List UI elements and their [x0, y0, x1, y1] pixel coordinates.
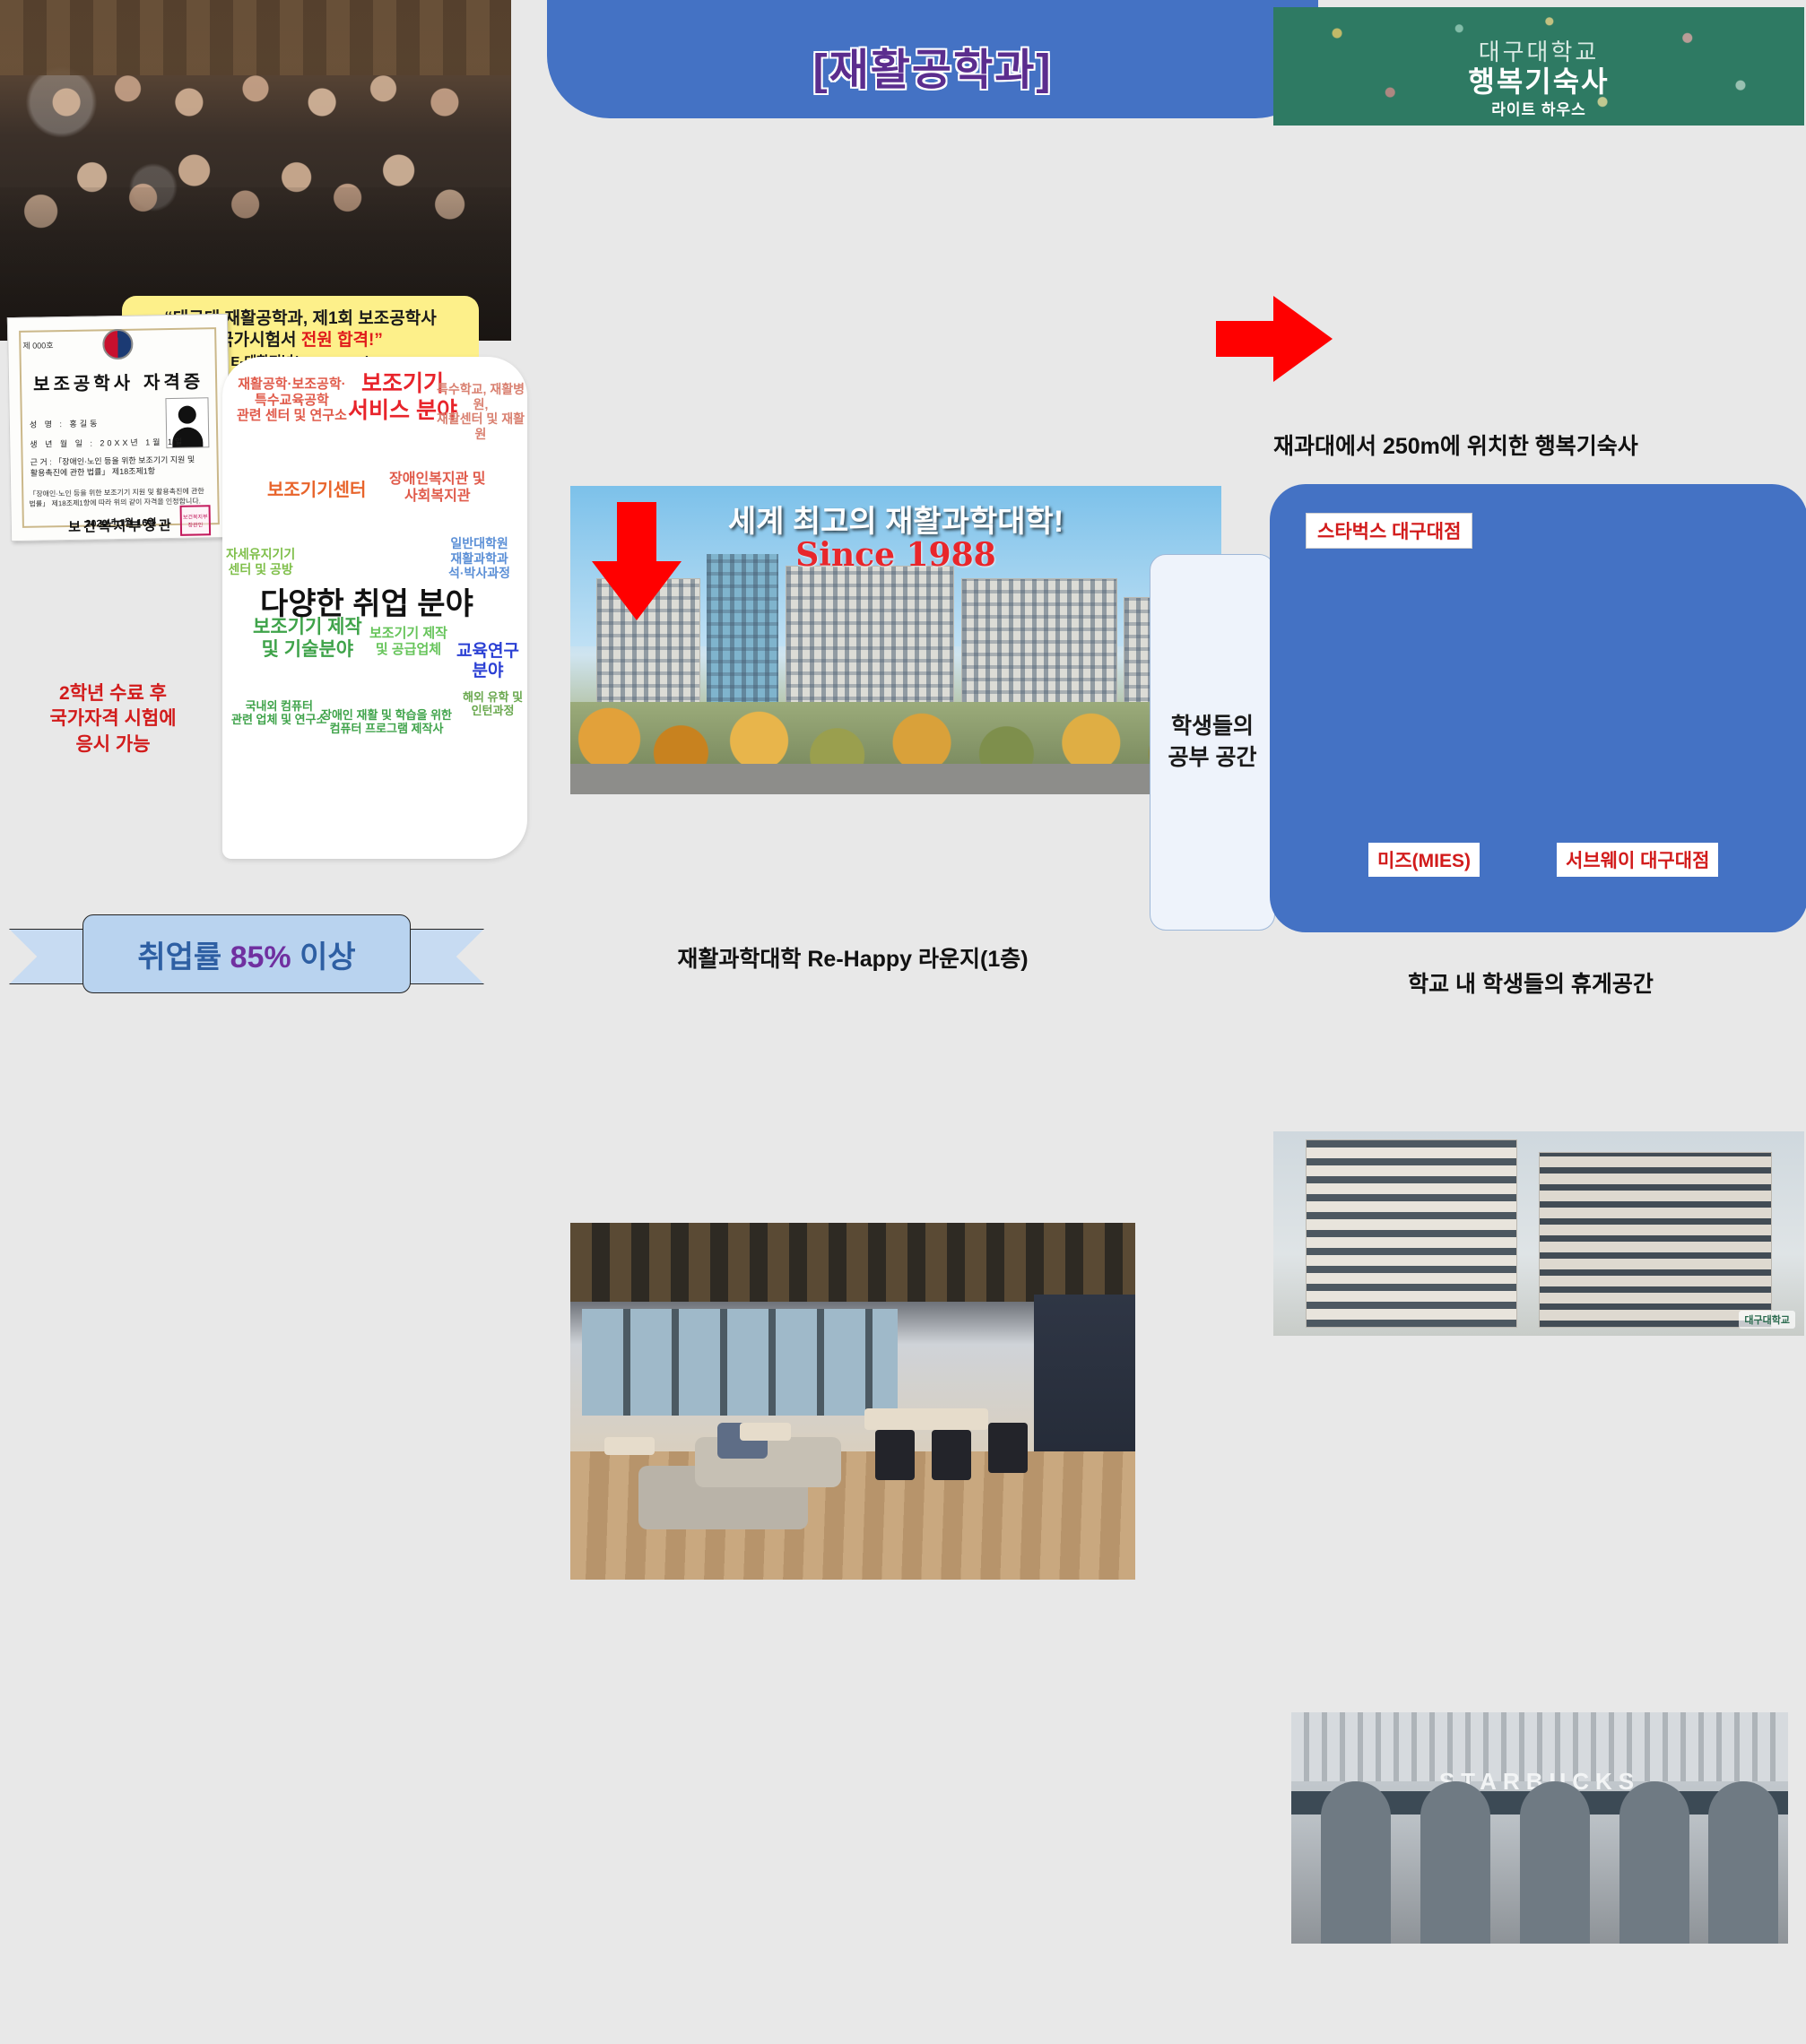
word-cloud-item: 보조기기 제작 및 기술분야	[253, 617, 362, 662]
ribbon-percent: 85%	[230, 940, 291, 974]
certificate-number: 제 000호	[22, 339, 53, 351]
study-table	[864, 1408, 989, 1430]
certificate-image: 제 000호 보조공학사 자격증 성 명 : 홍길동 생 년 월 일 : 20X…	[7, 314, 231, 541]
lounge-caption: 재활과학대학 Re-Happy 라운지(1층)	[570, 941, 1135, 974]
news-line-2-highlight: 전원 합격!”	[301, 331, 383, 350]
building-glass-tower	[707, 554, 778, 727]
page-title: [재활공학과]	[813, 34, 1053, 97]
starbucks-photo: STARBUCKS	[1291, 1712, 1788, 1944]
window-grid	[707, 554, 778, 727]
dorm-tower-right	[1539, 1152, 1772, 1328]
arch-4	[1619, 1781, 1689, 1944]
poster-canvas: [재활공학과] “대구대 재활공학과, 제1회 보조공학사 국가시험서 전원 합…	[0, 0, 1806, 1022]
university-logo: 대구대학교	[1739, 1311, 1795, 1329]
word-cloud-item: 재활공학·보조공학· 특수교육공학 관련 센터 및 연구소	[237, 377, 347, 424]
building-right	[961, 578, 1117, 720]
window-wall	[582, 1309, 899, 1416]
employment-rate-ribbon: 취업률 85% 이상	[9, 907, 484, 1000]
dorm-name: 행복기숙사	[1273, 59, 1804, 100]
word-cloud-item: 특수학교, 재활병원, 재활센터 및 재활원	[434, 382, 527, 441]
word-cloud-item: 보조기기센터	[267, 481, 366, 502]
certificate-field-name: 성 명 : 홍길동	[30, 417, 100, 429]
person-head-icon	[178, 406, 196, 424]
dorm-subtitle: 라이트 하우스	[1273, 97, 1804, 119]
arrow-shaft	[1216, 321, 1279, 357]
word-cloud-item: 일반대학원 재활과학과 석·박사과정	[448, 536, 510, 581]
dormitory-banner: 대구대학교 행복기숙사 라이트 하우스	[1273, 7, 1804, 126]
mies-label: 미즈(MIES)	[1368, 843, 1480, 877]
arrow-right-icon	[1216, 296, 1333, 382]
word-cloud-center-label: 다양한 취업 분야	[260, 586, 473, 622]
rest-area-card	[1270, 484, 1806, 932]
ribbon-body: 취업률 85% 이상	[82, 914, 411, 993]
word-cloud-item: 장애인 재활 및 학습을 위한 컴퓨터 프로그램 제작사	[321, 708, 452, 736]
arrow-head	[1273, 296, 1333, 382]
dormitory-photo: 대구대학교	[1273, 1131, 1804, 1336]
certificate-field-basis: 근 거 : 「장애인·노인 등을 위한 보조기기 지원 및 활용촉진에 관한 법…	[30, 455, 201, 479]
arch-5	[1708, 1781, 1778, 1944]
dormitory-caption: 재과대에서 250m에 위치한 행복기숙사	[1273, 429, 1806, 461]
chair-1	[875, 1430, 915, 1480]
subway-label: 서브웨이 대구대점	[1557, 843, 1718, 877]
word-cloud-item: 국내외 컴퓨터 관련 업체 및 연구소	[231, 699, 327, 727]
title-banner: [재활공학과]	[547, 0, 1318, 118]
certificate-title: 보조공학사 자격증	[9, 367, 228, 396]
career-word-cloud: 재활공학·보조공학· 특수교육공학 관련 센터 및 연구소보조기기 서비스 분야…	[222, 357, 527, 859]
word-cloud-item: 보조기기 제작 및 공급업체	[369, 626, 447, 657]
ribbon-text: 취업률 85% 이상	[137, 932, 355, 976]
arrow-head	[592, 561, 682, 620]
word-cloud-item: 교육연구 분야	[448, 642, 527, 682]
ribbon-pre: 취업률	[137, 940, 230, 974]
side-table-1	[604, 1437, 656, 1455]
rest-area-caption: 학교 내 학생들의 휴게공간	[1255, 966, 1806, 999]
word-cloud-item: 해외 유학 및 인턴과정	[463, 690, 523, 718]
word-cloud-item: 장애인복지관 및 사회복지관	[389, 472, 486, 506]
arrow-down-icon	[592, 502, 682, 619]
ribbon-post: 이상	[291, 940, 356, 974]
wood-ceiling	[570, 1223, 1135, 1302]
dorm-tower-left	[1306, 1139, 1518, 1328]
arch-2	[1420, 1781, 1490, 1944]
study-space-card: 학생들의 공부 공간	[1150, 554, 1275, 931]
official-stamp-icon: 보건복지부장관인	[180, 505, 212, 536]
starbucks-label: 스타벅스 대구대점	[1306, 513, 1472, 549]
word-cloud-item: 자세유지기기 센터 및 공방	[226, 547, 295, 576]
exam-eligibility-note: 2학년 수료 후 국가자격 시험에 응시 가능	[7, 681, 219, 758]
chair-3	[988, 1423, 1028, 1473]
road	[570, 764, 1221, 794]
arrow-shaft	[617, 502, 656, 567]
arch-3	[1520, 1781, 1590, 1944]
news-line-2-pre: 국가시험서	[218, 331, 301, 350]
chair-2	[932, 1430, 971, 1480]
study-space-label: 학생들의 공부 공간	[1168, 711, 1257, 774]
window-grid	[962, 579, 1116, 719]
news-line-2: 국가시험서 전원 합격!”	[218, 330, 383, 351]
side-table-2	[740, 1423, 791, 1441]
arch-1	[1321, 1781, 1391, 1944]
group-photo	[0, 0, 511, 341]
lounge-photo	[570, 1223, 1135, 1580]
